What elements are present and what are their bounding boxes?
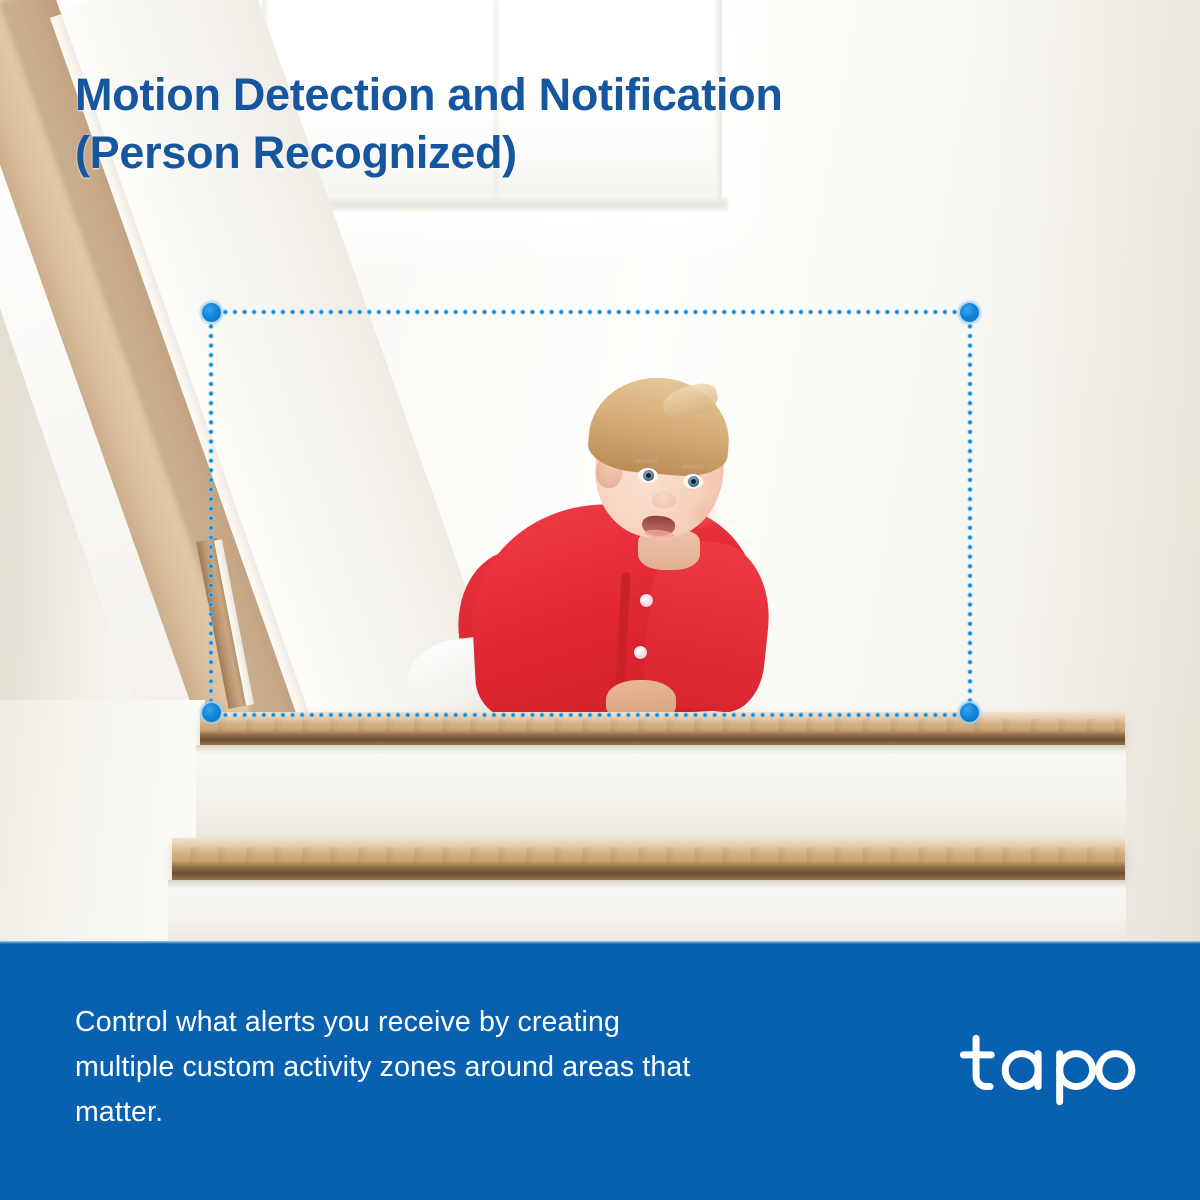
- tread-grain: [200, 719, 1125, 732]
- cardigan-button-bottom: [634, 646, 647, 659]
- riser-shadow: [168, 880, 1126, 889]
- stair-riser-upper: [196, 745, 1126, 839]
- stair-tread-lower: [172, 838, 1125, 880]
- promo-page: Motion Detection and Notification (Perso…: [0, 0, 1200, 1200]
- baby-eyebrow-left: [636, 459, 658, 463]
- baby-nose: [652, 492, 676, 508]
- footer-top-edge: [0, 941, 1200, 944]
- stair-riser-lower: [168, 880, 1126, 941]
- baby-subject: [400, 380, 800, 720]
- page-title: Motion Detection and Notification (Perso…: [75, 66, 1035, 182]
- cardigan-button-top: [640, 594, 653, 607]
- stair-tread-upper: [200, 712, 1125, 745]
- baby-cheek: [685, 500, 721, 528]
- tapo-logo: [952, 1022, 1142, 1108]
- riser-shadow: [196, 745, 1126, 754]
- footer-caption: Control what alerts you receive by creat…: [75, 1000, 885, 1135]
- tread-grain: [172, 847, 1125, 864]
- window-blind: [265, 0, 720, 12]
